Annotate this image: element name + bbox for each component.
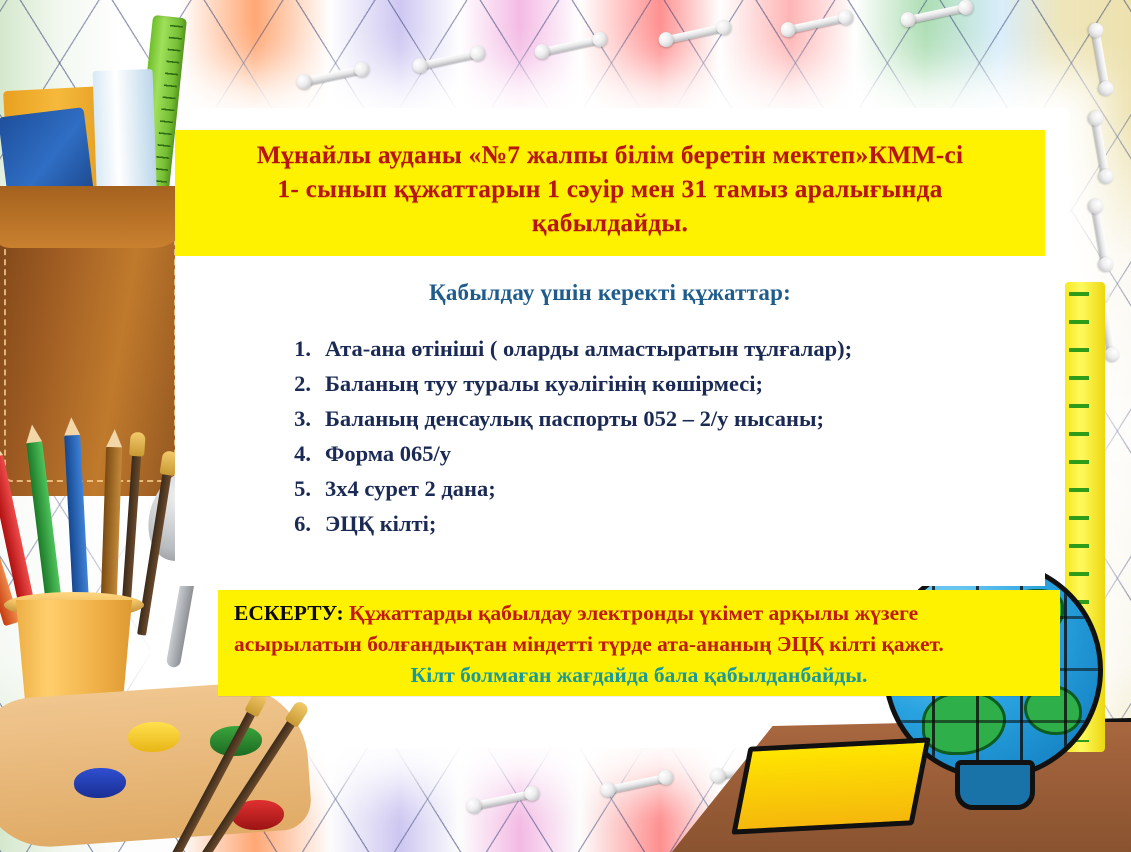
list-item: 4. Форма 065/у [285,437,1045,470]
title-line-3: қабылдайды. [189,206,1031,240]
notice-line-1: ЕСКЕРТУ: Құжаттарды қабылдау электронды … [234,598,1044,629]
list-item-number: 1. [285,332,311,365]
yellow-book-icon [731,737,930,834]
list-item: 3. Баланың денсаулық паспорты 052 – 2/у … [285,402,1045,435]
list-item: 2. Баланың туу туралы куәлігінің көшірме… [285,367,1045,400]
globe-stand [955,760,1035,810]
title-line-1: Мұнайлы ауданы «№7 жалпы білім беретін м… [189,138,1031,172]
notice-banner: ЕСКЕРТУ: Құжаттарды қабылдау электронды … [218,590,1060,696]
list-item: 1. Ата-ана өтініші ( оларды алмастыратын… [285,332,1045,365]
list-item-number: 5. [285,472,311,505]
list-item: 5. 3х4 сурет 2 дана; [285,472,1045,505]
list-item: 6. ЭЦҚ кілті; [285,507,1045,540]
notice-line-1-text: Құжаттарды қабылдау электронды үкімет ар… [344,601,918,625]
title-banner: Мұнайлы ауданы «№7 жалпы білім беретін м… [175,130,1045,256]
satchel-flap [0,186,192,248]
title-line-2: 1- сынып құжаттарын 1 сәуір мен 31 тамыз… [189,172,1031,206]
list-item-label: Форма 065/у [325,437,451,470]
list-item-label: Ата-ана өтініші ( оларды алмастыратын тұ… [325,332,852,365]
notice-keyword: ЕСКЕРТУ: [234,601,344,625]
notice-line-3: Кілт болмаған жағдайда бала қабылданбайд… [234,660,1044,691]
list-item-label: Баланың туу туралы куәлігінің көшірмесі; [325,367,763,400]
subtitle-required-documents: Қабылдау үшін керекті құжаттар: [175,256,1045,306]
list-item-number: 4. [285,437,311,470]
list-item-number: 2. [285,367,311,400]
required-documents-list: 1. Ата-ана өтініші ( оларды алмастыратын… [175,306,1045,540]
poster-canvas: Мұнайлы ауданы «№7 жалпы білім беретін м… [0,0,1131,852]
notice-line-2: асырылатын болғандықтан міндетті түрде а… [234,629,1044,660]
list-item-label: ЭЦҚ кілті; [325,507,436,540]
list-item-number: 3. [285,402,311,435]
list-item-number: 6. [285,507,311,540]
list-item-label: Баланың денсаулық паспорты 052 – 2/у ныс… [325,402,824,435]
content-panel: Қабылдау үшін керекті құжаттар: 1. Ата-а… [175,256,1045,586]
list-item-label: 3х4 сурет 2 дана; [325,472,496,505]
